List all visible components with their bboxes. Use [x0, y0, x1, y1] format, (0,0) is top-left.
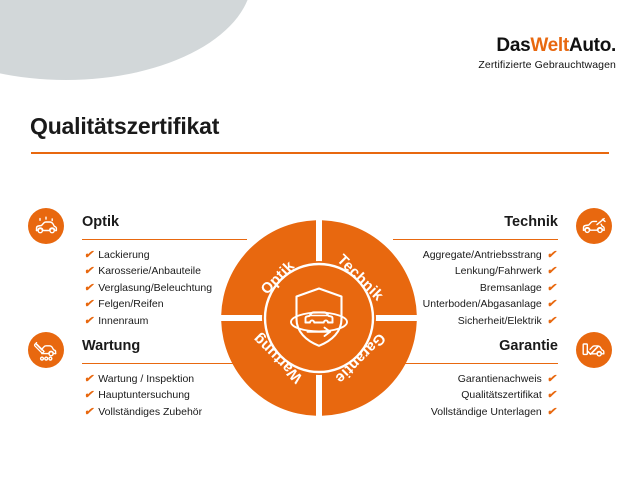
logo-accent: Welt: [530, 35, 569, 56]
check-icon: ✔: [84, 298, 93, 310]
check-icon: ✔: [84, 406, 93, 418]
check-icon: ✔: [547, 249, 556, 261]
check-icon: ✔: [547, 373, 556, 385]
list-item-label: Sicherheit/Elektrik: [458, 315, 542, 327]
list-item-label: Vollständiges Zubehör: [98, 406, 202, 418]
check-icon: ✔: [84, 315, 93, 327]
logo-subtitle: Zertifizierte Gebrauchtwagen: [478, 60, 616, 71]
car-tools-icon: [28, 332, 64, 368]
logo-suffix: Auto.: [569, 35, 616, 56]
list-item-label: Aggregate/Antriebsstrang: [423, 249, 542, 261]
car-wrench-icon: [576, 208, 612, 244]
title-divider: [31, 152, 609, 154]
check-icon: ✔: [84, 389, 93, 401]
logo-prefix: Das: [496, 35, 530, 56]
list-item-label: Wartung / Inspektion: [98, 373, 194, 385]
check-icon: ✔: [547, 406, 556, 418]
list-item-label: Garantienachweis: [458, 373, 542, 385]
list-item-label: Qualitätszertifikat: [461, 389, 542, 401]
list-item-label: Innenraum: [98, 315, 148, 327]
check-icon: ✔: [84, 282, 93, 294]
list-item-label: Vollständige Unterlagen: [431, 406, 542, 418]
logo-wordmark: DasWeltAuto.: [478, 36, 616, 55]
list-item-label: Felgen/Reifen: [98, 298, 163, 310]
list-item-label: Unterboden/Abgasanlage: [423, 298, 542, 310]
quality-wheel-diagram: Optik Technik Wartung Garantie: [219, 218, 419, 418]
check-icon: ✔: [84, 265, 93, 277]
list-item-label: Bremsanlage: [480, 282, 542, 294]
list-item-label: Karosserie/Anbauteile: [98, 265, 201, 277]
header-decorative-blob: [0, 0, 252, 80]
check-icon: ✔: [547, 265, 556, 277]
check-icon: ✔: [84, 249, 93, 261]
list-item-label: Hauptuntersuchung: [98, 389, 190, 401]
car-sparkle-icon: [28, 208, 64, 244]
check-icon: ✔: [84, 373, 93, 385]
page-title: Qualitätszertifikat: [30, 113, 219, 140]
check-icon: ✔: [547, 389, 556, 401]
check-icon: ✔: [547, 315, 556, 327]
car-check-icon: [576, 332, 612, 368]
list-item-label: Lackierung: [98, 249, 149, 261]
certificate-page: DasWeltAuto. Zertifizierte Gebrauchtwage…: [0, 0, 640, 480]
list-item-label: Lenkung/Fahrwerk: [455, 265, 542, 277]
check-icon: ✔: [547, 298, 556, 310]
list-item-label: Verglasung/Beleuchtung: [98, 282, 212, 294]
brand-logo: DasWeltAuto. Zertifizierte Gebrauchtwage…: [478, 36, 616, 71]
check-icon: ✔: [547, 282, 556, 294]
